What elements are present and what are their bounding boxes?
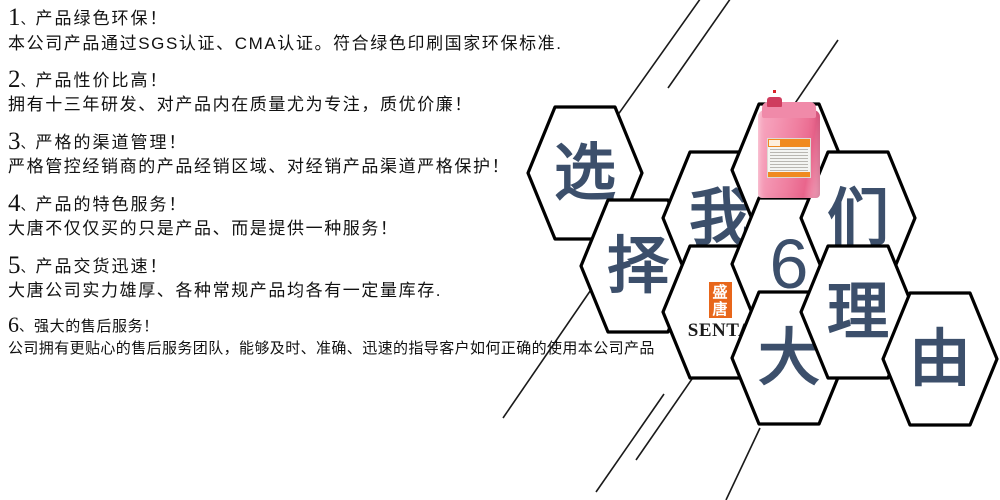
reason-number: 5	[8, 252, 21, 279]
reason-number: 6	[8, 312, 19, 337]
red-speck	[773, 90, 776, 93]
reason-number: 1	[8, 4, 21, 31]
product-image	[758, 96, 820, 198]
reason-title: 产品性价比高！	[36, 71, 169, 90]
reason-number: 3	[8, 128, 21, 155]
logo-seal-line1: 盛	[710, 284, 731, 301]
reason-separator: 、	[21, 11, 36, 27]
reason-title: 产品绿色环保！	[36, 9, 169, 28]
reason-number: 4	[8, 190, 21, 217]
reason-title: 产品交货迅速！	[36, 257, 169, 276]
promo-banner: 1、产品绿色环保！ 本公司产品通过SGS认证、CMA认证。符合绿色印刷国家环保标…	[0, 0, 1000, 500]
reason-separator: 、	[21, 135, 36, 151]
reason-title: 严格的渠道管理！	[36, 133, 188, 152]
logo-seal-line2: 唐	[710, 301, 731, 318]
reason-separator: 、	[21, 197, 36, 213]
reason-separator: 、	[21, 73, 36, 89]
hexagon-label: 由	[880, 290, 1000, 428]
reason-body: 本公司产品通过SGS认证、CMA认证。符合绿色印刷国家环保标准.	[8, 34, 708, 54]
can-label	[767, 138, 811, 178]
label-text-lines	[768, 147, 810, 174]
label-footer-band	[768, 172, 810, 177]
reason-separator: 、	[21, 259, 36, 275]
reason-number: 2	[8, 66, 21, 93]
reason-heading: 2、产品性价比高！	[8, 66, 708, 94]
reason-heading: 1、产品绿色环保！	[8, 4, 708, 32]
can-cap-icon	[767, 97, 782, 107]
hexagon-you[interactable]: 由	[880, 290, 1000, 428]
reason-title: 产品的特色服务！	[36, 195, 188, 214]
reason-item-1: 1、产品绿色环保！ 本公司产品通过SGS认证、CMA认证。符合绿色印刷国家环保标…	[8, 4, 708, 54]
reason-separator: 、	[19, 318, 34, 334]
reason-body: 公司拥有更贴心的售后服务团队，能够及时、准确、迅速的指导客户如何正确的使用本公司…	[8, 340, 708, 358]
label-header-band	[768, 139, 810, 147]
reason-title: 强大的售后服务！	[34, 318, 159, 335]
